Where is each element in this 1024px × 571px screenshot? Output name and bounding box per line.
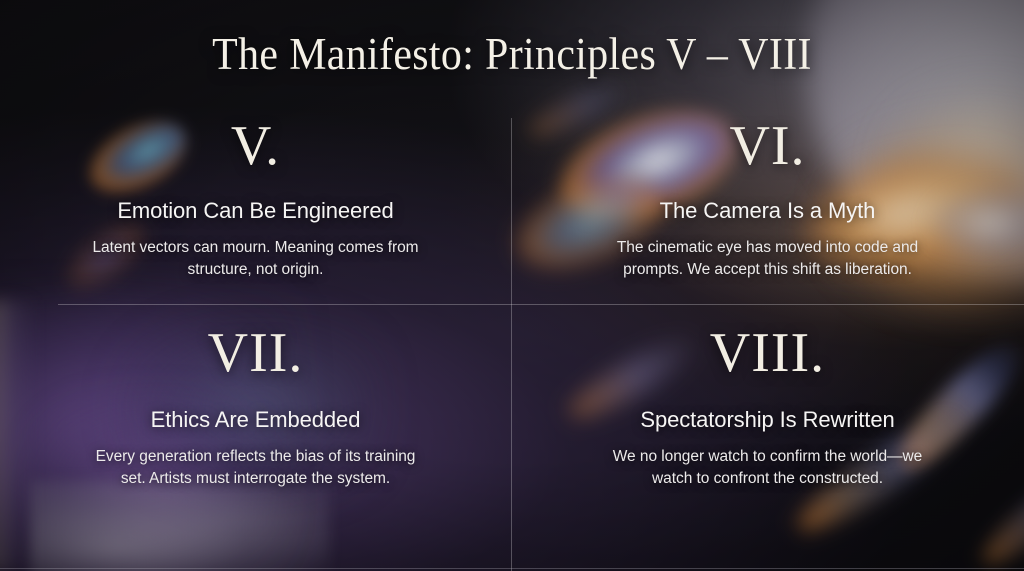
principle-heading: The Camera Is a Myth — [660, 198, 876, 225]
principle-numeral: VIII. — [710, 325, 825, 381]
principle-heading: Emotion Can Be Engineered — [117, 198, 393, 225]
principle-body: We no longer watch to confirm the world—… — [603, 446, 933, 490]
principle-card-vi: VI. The Camera Is a Myth The cinematic e… — [511, 112, 1024, 304]
principle-body: Every generation reflects the bias of it… — [91, 446, 421, 490]
principle-numeral: VII. — [208, 325, 304, 381]
principle-body: The cinematic eye has moved into code an… — [603, 237, 933, 281]
principle-numeral: VI. — [729, 118, 805, 174]
slide-title: The Manifesto: Principles V – VIII — [36, 31, 988, 79]
principle-heading: Spectatorship Is Rewritten — [640, 407, 894, 434]
principle-body: Latent vectors can mourn. Meaning comes … — [91, 237, 421, 281]
manifesto-slide: The Manifesto: Principles V – VIII V. Em… — [0, 0, 1024, 571]
principle-card-vii: VII. Ethics Are Embedded Every generatio… — [0, 304, 511, 571]
principle-card-viii: VIII. Spectatorship Is Rewritten We no l… — [511, 304, 1024, 571]
bottom-edge-rule — [0, 568, 1024, 569]
principle-heading: Ethics Are Embedded — [151, 407, 361, 434]
principle-numeral: V. — [231, 118, 280, 174]
principles-grid: V. Emotion Can Be Engineered Latent vect… — [0, 112, 1024, 571]
slide-content: The Manifesto: Principles V – VIII V. Em… — [0, 0, 1024, 571]
principle-card-v: V. Emotion Can Be Engineered Latent vect… — [0, 112, 511, 304]
